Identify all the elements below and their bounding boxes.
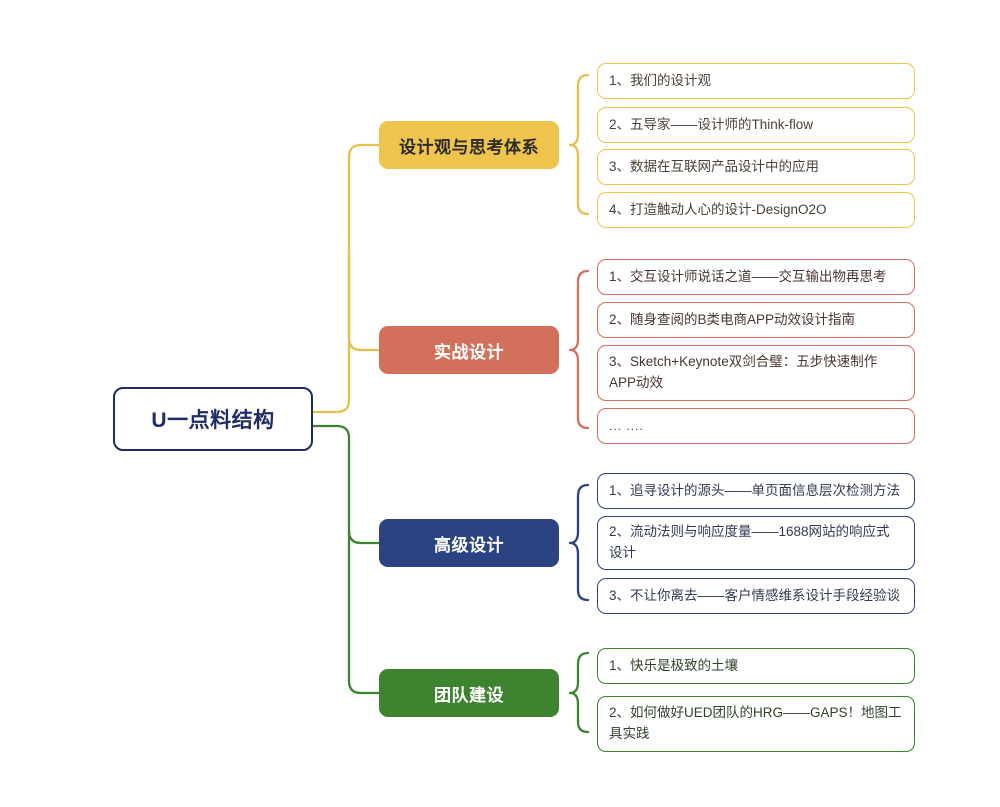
root-node-label: U一点料结构 bbox=[151, 404, 274, 434]
branch-node-2-label: 实战设计 bbox=[434, 338, 504, 363]
leaf-label: ... .... bbox=[598, 417, 655, 436]
leaf-box-4-2[interactable]: 2、如何做好UED团队的HRG——GAPS！地图工具实践 bbox=[597, 696, 915, 752]
leaf-label: 1、交互设计师说话之道——交互输出物再思考 bbox=[598, 267, 898, 288]
root-to-upper-bracket-lower bbox=[349, 350, 379, 400]
leaf-box-2-3[interactable]: 3、Sketch+Keynote双剑合璧：五步快速制作APP动效 bbox=[597, 345, 915, 401]
leaf-box-1-1[interactable]: 1、我们的设计观 bbox=[597, 63, 915, 99]
branch-node-3[interactable]: 高级设计 bbox=[379, 519, 559, 567]
leaf-label: 1、快乐是极致的土壤 bbox=[598, 656, 749, 677]
leaf-label: 2、如何做好UED团队的HRG——GAPS！地图工具实践 bbox=[598, 703, 914, 745]
leaf-label: 3、Sketch+Keynote双剑合璧：五步快速制作APP动效 bbox=[598, 352, 914, 394]
leaf-label: 3、数据在互联网产品设计中的应用 bbox=[598, 157, 830, 178]
leaf-label: 4、打造触动人心的设计-DesignO2O bbox=[598, 200, 838, 221]
lower-bracket-to-branch4 bbox=[349, 531, 379, 693]
leaf-box-3-2[interactable]: 2、流动法则与响应度量——1688网站的响应式设计 bbox=[597, 516, 915, 570]
leaf-label: 3、不让你离去——客户情感维系设计手段经验谈 bbox=[598, 586, 911, 607]
leaf-label: 2、流动法则与响应度量——1688网站的响应式设计 bbox=[598, 522, 914, 564]
leaf-box-3-1[interactable]: 1、追寻设计的源头——单页面信息层次检测方法 bbox=[597, 473, 915, 509]
branch-node-2[interactable]: 实战设计 bbox=[379, 326, 559, 374]
brace-branch-1 bbox=[570, 75, 588, 214]
leaf-label: 2、随身查阅的B类电商APP动效设计指南 bbox=[598, 310, 866, 331]
leaf-box-2-2[interactable]: 2、随身查阅的B类电商APP动效设计指南 bbox=[597, 302, 915, 338]
branch-node-1[interactable]: 设计观与思考体系 bbox=[379, 121, 559, 169]
leaf-label: 2、五导家——设计师的Think-flow bbox=[598, 115, 824, 136]
brace-branch-3 bbox=[570, 485, 588, 600]
upper-bracket-to-branch2 bbox=[349, 250, 379, 350]
leaf-box-1-3[interactable]: 3、数据在互联网产品设计中的应用 bbox=[597, 149, 915, 185]
branch-node-1-label: 设计观与思考体系 bbox=[399, 133, 539, 158]
leaf-box-2-1[interactable]: 1、交互设计师说话之道——交互输出物再思考 bbox=[597, 259, 915, 295]
leaf-box-2-4[interactable]: ... .... bbox=[597, 408, 915, 444]
root-node[interactable]: U一点料结构 bbox=[113, 387, 313, 451]
leaf-box-4-1[interactable]: 1、快乐是极致的土壤 bbox=[597, 648, 915, 684]
branch-node-3-label: 高级设计 bbox=[434, 531, 504, 556]
leaf-box-1-2[interactable]: 2、五导家——设计师的Think-flow bbox=[597, 107, 915, 143]
leaf-box-1-4[interactable]: 4、打造触动人心的设计-DesignO2O bbox=[597, 192, 915, 228]
branch-node-4[interactable]: 团队建设 bbox=[379, 669, 559, 717]
root-to-lower-bracket bbox=[313, 426, 379, 543]
leaf-label: 1、追寻设计的源头——单页面信息层次检测方法 bbox=[598, 481, 911, 502]
leaf-label: 1、我们的设计观 bbox=[598, 71, 722, 92]
leaf-box-3-3[interactable]: 3、不让你离去——客户情感维系设计手段经验谈 bbox=[597, 578, 915, 614]
mind-map-canvas: U一点料结构 设计观与思考体系 1、我们的设计观 2、五导家——设计师的Thin… bbox=[0, 0, 1000, 807]
root-to-upper-bracket bbox=[313, 145, 379, 412]
brace-branch-2 bbox=[570, 271, 588, 428]
branch-node-4-label: 团队建设 bbox=[434, 681, 504, 706]
brace-branch-4 bbox=[570, 653, 588, 732]
